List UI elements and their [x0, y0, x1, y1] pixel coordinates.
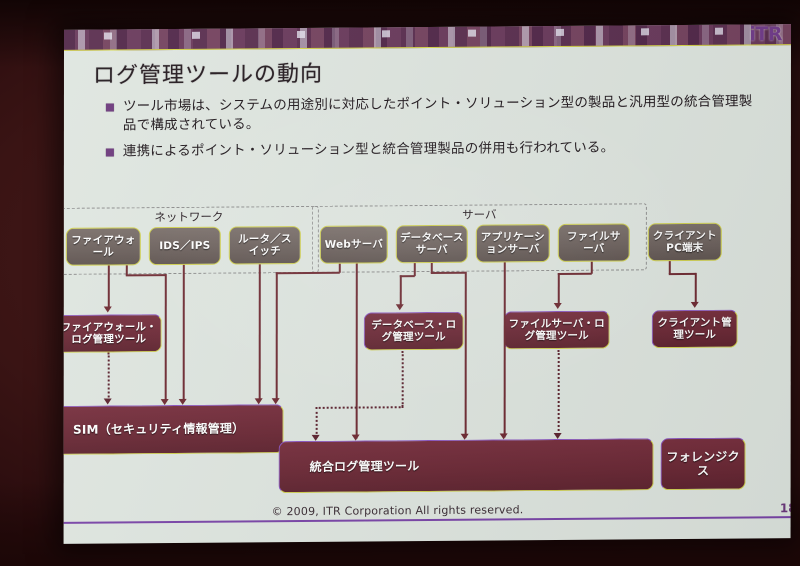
list-item: 連携によるポイント・ソリューション型と統合管理製品の併用も行われている。	[106, 138, 766, 162]
connector-db-to-db-log-c	[400, 275, 402, 305]
connector-web-to-sim-c	[276, 272, 278, 401]
connector-router-to-sim	[259, 264, 261, 401]
connector-db-to-unified-c	[465, 272, 467, 438]
connector-client-to-mgmt-b	[669, 273, 696, 275]
connector-firewall-to-sim-b	[126, 274, 166, 276]
projection-photo: iTR ログ管理ツールの動向 ツール市場は、システムの用途別に対応したポイント・…	[0, 0, 800, 566]
log-management-diagram: ネットワーク サーバ ファイアウォール IDS／IPS ルータ／スイッチ Web…	[64, 172, 791, 498]
connector-db-log-to-unified-c	[316, 407, 318, 438]
node-router-switch[interactable]: ルータ／スイッチ	[229, 226, 301, 265]
connector-web-to-sim-b	[276, 272, 340, 274]
connector-file-to-file-log-c	[558, 273, 560, 304]
bullet-marker-icon	[106, 149, 114, 157]
arrowhead	[554, 303, 562, 309]
connector-ids-to-sim	[183, 265, 185, 402]
connector-db-log-to-unified-a	[402, 351, 404, 407]
arrowhead	[500, 433, 508, 439]
connector-db-to-db-log-b	[400, 275, 415, 277]
copyright-text: © 2009, ITR Corporation All rights reser…	[272, 503, 524, 518]
node-sim[interactable]: SIM（セキュリティ情報管理）	[64, 404, 284, 455]
connector-firewall-to-sim-c	[165, 274, 167, 402]
connector-file-to-file-log-b	[558, 273, 592, 275]
arrowhead	[396, 304, 404, 310]
slide-header-band	[64, 24, 791, 51]
node-forensics[interactable]: フォレンジクス	[661, 438, 746, 491]
arrowhead	[104, 398, 112, 404]
node-file-server[interactable]: ファイルサーバ	[558, 223, 630, 262]
footer-divider	[64, 517, 791, 524]
bullet-text: 連携によるポイント・ソリューション型と統合管理製品の併用も行われている。	[123, 139, 614, 162]
bullet-marker-icon	[106, 103, 114, 111]
arrowhead	[272, 398, 280, 404]
connector-firewall-log-to-sim	[108, 353, 110, 401]
connector-db-to-unified-b	[431, 272, 466, 274]
arrowhead	[179, 399, 187, 405]
connector-firewall-to-firewall-log	[108, 266, 110, 309]
node-application-server[interactable]: アプリケーションサーバ	[476, 224, 550, 263]
group-network-label: ネットワーク	[64, 208, 318, 226]
connector-file-log-to-unified	[558, 350, 560, 435]
node-unified-log-tool[interactable]: 統合ログ管理ツール	[279, 438, 654, 493]
arrowhead	[691, 302, 699, 308]
node-firewall[interactable]: ファイアウォール	[66, 227, 141, 266]
presentation-slide: iTR ログ管理ツールの動向 ツール市場は、システムの用途別に対応したポイント・…	[64, 24, 791, 544]
connector-client-to-mgmt-c	[695, 273, 697, 303]
node-database-server[interactable]: データベースサーバ	[396, 225, 468, 264]
arrowhead	[554, 433, 562, 439]
connector-web-to-unified	[356, 264, 358, 439]
node-web-server[interactable]: Webサーバ	[320, 225, 388, 264]
arrowhead	[161, 399, 169, 405]
itr-logo: iTR	[749, 24, 782, 45]
page-title: ログ管理ツールの動向	[93, 56, 323, 90]
node-firewall-log-tool[interactable]: ファイアウォール・ログ管理ツール	[64, 314, 162, 353]
bullet-text: ツール市場は、システムの用途別に対応したポイント・ソリューション型の製品と汎用型…	[123, 92, 766, 135]
page-number: 18	[780, 501, 791, 515]
group-server-label: サーバ	[313, 205, 646, 224]
node-fileserver-log-tool[interactable]: ファイルサーバ・ログ管理ツール	[504, 311, 610, 350]
node-client-mgmt-tool[interactable]: クライアント管理ツール	[652, 310, 738, 349]
arrowhead	[352, 435, 360, 441]
list-item: ツール市場は、システムの用途別に対応したポイント・ソリューション型の製品と汎用型…	[106, 92, 766, 135]
arrowhead	[461, 434, 469, 440]
connector-db-log-to-unified-b	[316, 406, 404, 409]
node-database-log-tool[interactable]: データベース・ログ管理ツール	[364, 312, 464, 351]
arrowhead	[255, 398, 263, 404]
node-client-pc[interactable]: クライアントPC端末	[648, 223, 722, 262]
connector-app-to-unified	[504, 262, 506, 437]
arrowhead	[312, 435, 320, 441]
arrowhead	[104, 306, 112, 312]
bullet-list: ツール市場は、システムの用途別に対応したポイント・ソリューション型の製品と汎用型…	[106, 92, 766, 169]
node-ids-ips[interactable]: IDS／IPS	[149, 227, 221, 266]
